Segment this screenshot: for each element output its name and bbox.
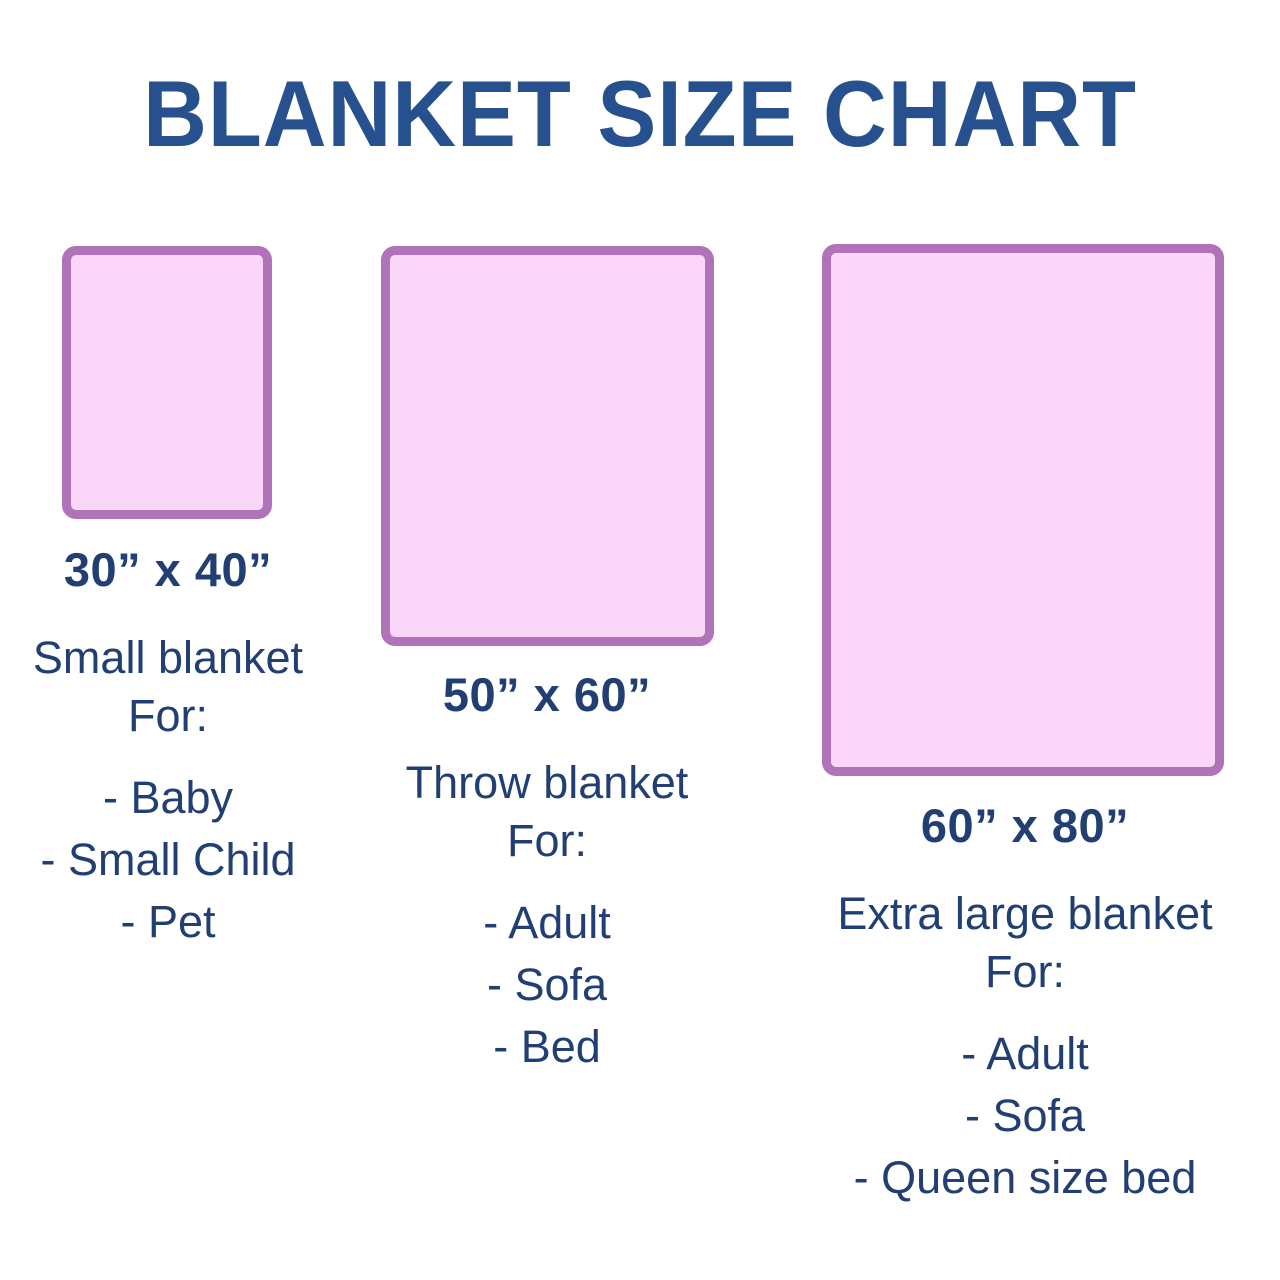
for-label-small: For:	[0, 687, 336, 745]
blanket-swatch-throw	[381, 246, 714, 646]
for-label-extra-large: For:	[790, 943, 1260, 1001]
blanket-size-chart: BLANKET SIZE CHART 30” x 40” Small blank…	[0, 0, 1280, 1280]
dimension-label-extra-large: 60” x 80”	[790, 797, 1260, 855]
text-block-extra-large: 60” x 80” Extra large blanket For: - Adu…	[790, 797, 1260, 1209]
list-item: - Bed	[356, 1016, 738, 1078]
column-small-blanket: 30” x 40” Small blanket For: - Baby - Sm…	[0, 0, 336, 1280]
use-list-throw: - Adult - Sofa - Bed	[356, 892, 738, 1078]
column-extra-large-blanket: 60” x 80” Extra large blanket For: - Adu…	[790, 0, 1260, 1280]
blanket-swatch-extra-large	[822, 244, 1224, 776]
text-block-small: 30” x 40” Small blanket For: - Baby - Sm…	[0, 541, 336, 953]
list-item: - Adult	[356, 892, 738, 954]
list-item: - Pet	[0, 891, 336, 953]
blanket-type-throw: Throw blanket	[356, 754, 738, 812]
for-label-throw: For:	[356, 812, 738, 870]
blanket-type-extra-large: Extra large blanket	[790, 885, 1260, 943]
column-throw-blanket: 50” x 60” Throw blanket For: - Adult - S…	[356, 0, 738, 1280]
dimension-label-throw: 50” x 60”	[356, 666, 738, 724]
blanket-swatch-small	[62, 246, 272, 519]
use-list-extra-large: - Adult - Sofa - Queen size bed	[790, 1023, 1260, 1209]
blanket-type-small: Small blanket	[0, 629, 336, 687]
text-block-throw: 50” x 60” Throw blanket For: - Adult - S…	[356, 666, 738, 1078]
list-item: - Queen size bed	[790, 1147, 1260, 1209]
dimension-label-small: 30” x 40”	[0, 541, 336, 599]
list-item: - Baby	[0, 767, 336, 829]
list-item: - Sofa	[356, 954, 738, 1016]
list-item: - Adult	[790, 1023, 1260, 1085]
list-item: - Sofa	[790, 1085, 1260, 1147]
use-list-small: - Baby - Small Child - Pet	[0, 767, 336, 953]
list-item: - Small Child	[0, 829, 336, 891]
